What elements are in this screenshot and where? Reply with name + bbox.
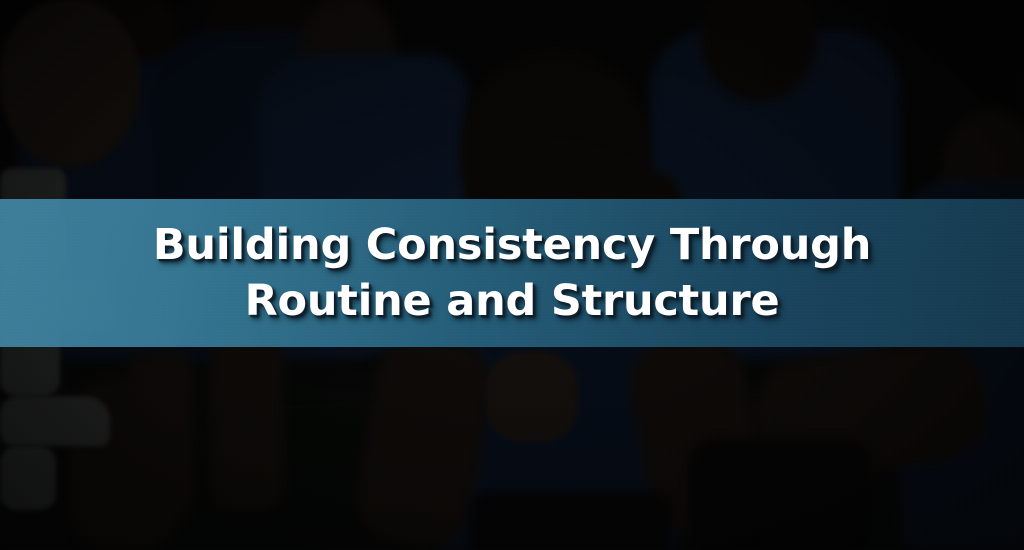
page-title: Building Consistency Through Routine and… [153, 217, 871, 329]
title-banner: Building Consistency Through Routine and… [0, 199, 1024, 347]
page-title-line-2: Routine and Structure [153, 273, 871, 329]
page-title-line-1: Building Consistency Through [153, 217, 871, 273]
featured-image-banner: Building Consistency Through Routine and… [0, 0, 1024, 550]
